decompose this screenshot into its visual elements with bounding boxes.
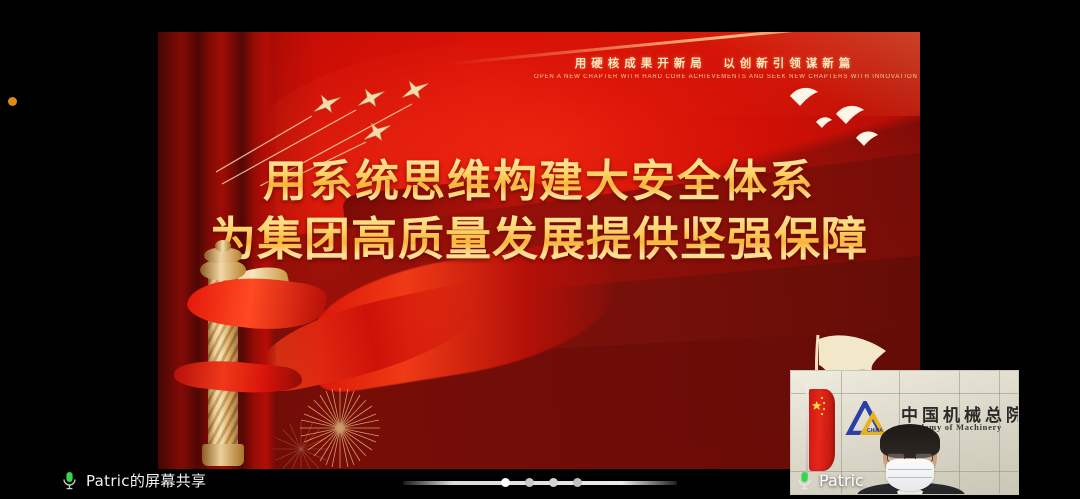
page-dot-1[interactable] — [501, 478, 510, 487]
recording-dot — [8, 97, 17, 106]
airplane-group — [216, 66, 446, 186]
doves-icon — [784, 80, 894, 160]
mask-fold — [888, 477, 932, 478]
page-dot-4[interactable] — [573, 478, 582, 487]
screen-share-label: Patric的屏幕共享 — [62, 470, 206, 491]
participant-face-mask — [886, 459, 934, 491]
participant-video-thumbnail[interactable]: CHINA 中国机械总院 Academy of Machinery — [790, 370, 1019, 495]
wall-seam — [999, 371, 1000, 495]
dove-group — [784, 80, 894, 160]
page-dot-3[interactable] — [549, 478, 558, 487]
firework-burst-small-decor — [270, 418, 332, 469]
participant-name: Patric — [819, 471, 864, 490]
chinese-flag — [809, 389, 835, 471]
participant-figure — [861, 427, 961, 495]
pillar-knob-decor — [215, 240, 231, 252]
pillar-base-decor — [202, 444, 244, 466]
microphone-icon — [797, 471, 812, 490]
screen-share-viewer: 用硬核成果开新局 以创新引领谋新篇 OPEN A NEW CHAPTER WIT… — [0, 0, 1080, 499]
page-dot-2[interactable] — [525, 478, 534, 487]
screen-share-text: Patric的屏幕共享 — [86, 470, 206, 491]
pillar-cap-decor — [200, 260, 246, 280]
participant-name-badge: Patric — [797, 471, 864, 490]
microphone-icon — [62, 471, 77, 490]
mask-fold — [888, 469, 932, 470]
airplanes-icon — [216, 66, 446, 186]
pillar-sash-decor — [173, 355, 303, 398]
flag-pole — [806, 383, 808, 479]
page-indicator-track[interactable] — [403, 481, 677, 485]
page-indicator[interactable] — [403, 479, 677, 486]
